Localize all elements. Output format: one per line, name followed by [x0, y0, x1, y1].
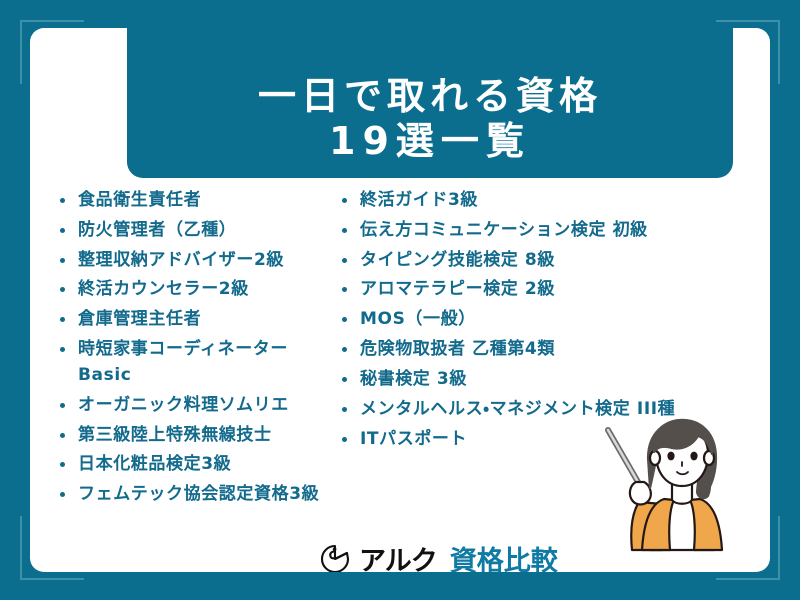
list-item: アロマテラピー検定 2級 [340, 277, 760, 303]
list-item: 第三級陸上特殊無線技士 [58, 423, 330, 449]
cert-list-left: 食品衛生責任者 防火管理者（乙種） 整理収納アドバイザー2級 終活カウンセラー2… [58, 188, 330, 508]
list-item: MOS（一般） [340, 307, 760, 333]
list-item: フェムテック協会認定資格3級 [58, 482, 330, 508]
list-item: 防火管理者（乙種） [58, 218, 330, 244]
certificate-list-left-column: 食品衛生責任者 防火管理者（乙種） 整理収納アドバイザー2級 終活カウンセラー2… [30, 188, 330, 512]
logo-brand-text: アルク [359, 548, 437, 573]
list-item: 倉庫管理主任者 [58, 307, 330, 333]
list-item: 秘書検定 3級 [340, 367, 760, 393]
list-item: 食品衛生責任者 [58, 188, 330, 214]
list-item: 時短家事コーディネーター Basic [58, 337, 330, 389]
poster-root: 一日で取れる資格 19選一覧 食品衛生責任者 防火管理者（乙種） 整理収納アドバ… [0, 0, 800, 600]
title-line-2: 19選一覧 [329, 119, 531, 164]
list-item: 終活ガイド3級 [340, 188, 760, 214]
list-item: 日本化粧品検定3級 [58, 452, 330, 478]
alc-bird-mark-icon [318, 544, 352, 572]
brand-logo: アルク 資格比較 [318, 544, 558, 572]
woman-with-pointer-illustration [592, 408, 762, 568]
list-item: 整理収納アドバイザー2級 [58, 248, 330, 274]
title-banner: 一日で取れる資格 19選一覧 [127, 28, 733, 178]
list-item: 伝え方コミュニケーション検定 初級 [340, 218, 760, 244]
title-line-1: 一日で取れる資格 [258, 74, 602, 119]
list-item: 危険物取扱者 乙種第4類 [340, 337, 760, 363]
content-card: 一日で取れる資格 19選一覧 食品衛生責任者 防火管理者（乙種） 整理収納アドバ… [30, 28, 770, 572]
list-item: タイピング技能検定 8級 [340, 248, 760, 274]
logo-tagline-text: 資格比較 [450, 548, 558, 573]
list-item: オーガニック料理ソムリエ [58, 393, 330, 419]
list-item: 終活カウンセラー2級 [58, 277, 330, 303]
